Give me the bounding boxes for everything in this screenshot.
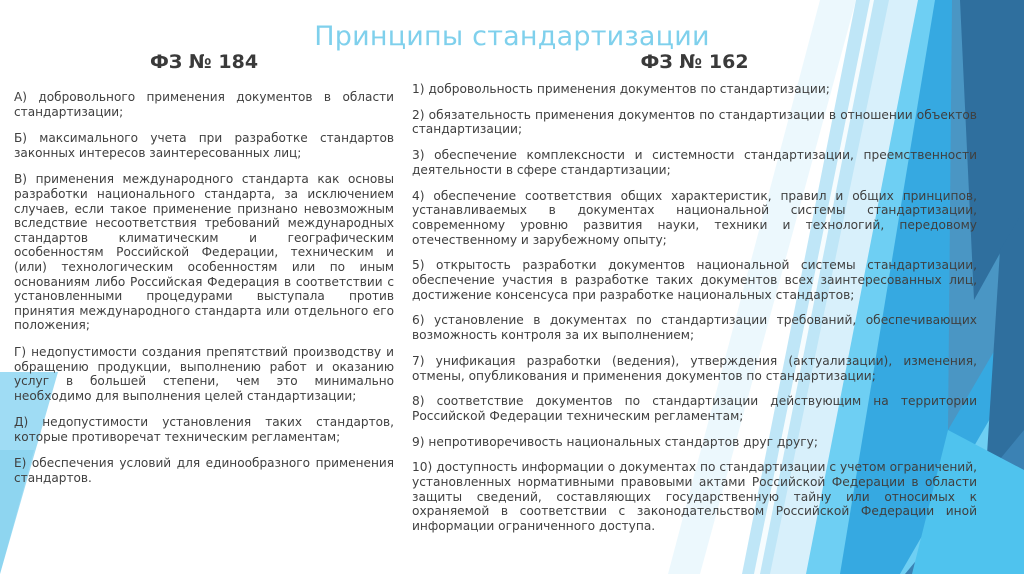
- column-heading-fz-184: ФЗ № 184: [14, 50, 394, 74]
- list-item: 9) непротиворечивость национальных станд…: [412, 435, 977, 450]
- list-item: Д) недопустимости установления таких ста…: [14, 415, 394, 444]
- list-item: 1) добровольность применения документов …: [412, 82, 977, 97]
- list-item: 2) обязательность применения документов …: [412, 108, 977, 137]
- list-item: В) применения международного стандарта к…: [14, 172, 394, 333]
- list-item: А) добровольного применения документов в…: [14, 90, 394, 119]
- column-fz-184: ФЗ № 184 А) добровольного применения док…: [14, 50, 394, 486]
- column-heading-fz-162: ФЗ № 162: [412, 50, 977, 74]
- list-item: 7) унификация разработки (ведения), утве…: [412, 354, 977, 383]
- slide-canvas: Принципы стандартизации ФЗ № 184 А) добр…: [0, 0, 1024, 574]
- page-title: Принципы стандартизации: [0, 20, 1024, 54]
- list-item: Б) максимального учета при разработке ст…: [14, 131, 394, 160]
- column-fz-162: ФЗ № 162 1) добровольность применения до…: [412, 50, 977, 534]
- list-item: Е) обеспечения условий для единообразног…: [14, 456, 394, 485]
- list-item: 6) установление в документах по стандарт…: [412, 313, 977, 342]
- list-item: 4) обеспечение соответствия общих характ…: [412, 189, 977, 248]
- list-item: 3) обеспечение комплексности и системнос…: [412, 148, 977, 177]
- list-item: 10) доступность информации о документах …: [412, 460, 977, 534]
- slide-content: Принципы стандартизации ФЗ № 184 А) добр…: [0, 0, 1024, 574]
- list-item: 8) соответствие документов по стандартиз…: [412, 394, 977, 423]
- list-item: 5) открытость разработки документов наци…: [412, 258, 977, 302]
- list-item: Г) недопустимости создания препятствий п…: [14, 345, 394, 403]
